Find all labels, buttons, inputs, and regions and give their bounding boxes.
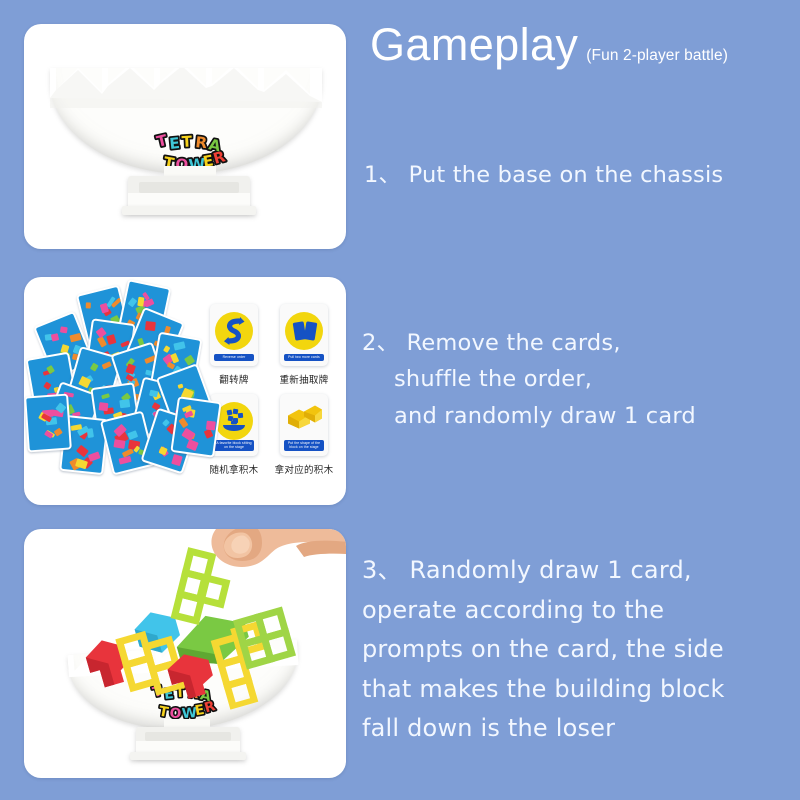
step-3-line-3: that makes the building block (362, 670, 725, 710)
step-3-text: 3、 Randomly draw 1 card, operate accordi… (362, 551, 725, 749)
card-back-block (144, 321, 155, 331)
card-back (24, 394, 72, 453)
svg-text:T: T (155, 131, 170, 151)
card-back-block (85, 302, 91, 308)
photo-panel-step-3: T E T R A T O W E R T E T (24, 529, 346, 778)
svg-text:T: T (158, 704, 171, 720)
step-2-line-1: shuffle the order, (362, 361, 696, 397)
step-1-line-0: 1、 Put the base on the chassis (364, 157, 723, 189)
step-3-line-0: 3、 Randomly draw 1 card, (362, 551, 725, 591)
svg-text:T: T (181, 132, 193, 151)
card-back-block (51, 333, 59, 342)
hand-icon (192, 529, 346, 595)
example-card-banner-3: Put the shape of the block on the stage (284, 440, 324, 451)
example-card-3: Put the shape of the block on the stage (280, 394, 328, 456)
two-cards-icon (285, 312, 323, 350)
example-card-banner-2: A favorite block sitting on the stage (214, 440, 254, 451)
card-back-block (163, 345, 170, 352)
step-3-line-2: prompts on the card, the side (362, 630, 725, 670)
photo-panel-step-1: T E T R A T O W E R T E T (24, 24, 346, 249)
example-card-banner-1: Pull two more cards (284, 354, 324, 361)
card-back-block (119, 399, 130, 408)
chassis-foot (122, 206, 256, 215)
step-3-line-1: operate according to the (362, 591, 725, 631)
chassis-foot (130, 752, 246, 760)
card-back-block (60, 327, 68, 334)
step-2-line-2: and randomly draw 1 card (362, 398, 696, 434)
example-card-1: Pull two more cards (280, 304, 328, 366)
card-back-block (76, 445, 89, 458)
card-back-block (69, 333, 81, 342)
svg-text:O: O (169, 705, 182, 720)
card-back-block (90, 362, 99, 371)
reverse-arrows-glyph (215, 312, 253, 350)
svg-text:R: R (195, 133, 209, 152)
infographic-page: T E T R A T O W E R T E T (0, 0, 800, 800)
card-back-block (128, 297, 138, 307)
product-photo-gameplay: T E T R A T O W E R T E T (24, 529, 346, 778)
card-back-block (88, 452, 101, 463)
card-back-block (101, 394, 110, 400)
hand (192, 529, 346, 595)
svg-text:E: E (169, 134, 181, 153)
two-cards-glyph (285, 312, 323, 350)
example-card-0: Reverse order (210, 304, 258, 366)
step-3-line-4: fall down is the loser (362, 709, 725, 749)
card-back-block (43, 382, 51, 390)
chassis-slot (145, 732, 230, 741)
step-2-text: 2、 Remove the cards, shuffle the order, … (362, 325, 696, 434)
card-back-block (173, 341, 186, 351)
example-card-banner-0: Reverse order (214, 354, 254, 361)
card-back-block (101, 361, 111, 369)
card-back-block (137, 297, 144, 307)
card-back-block (171, 453, 182, 465)
header: Gameplay (Fun 2-player battle) (370, 22, 790, 67)
photo-panel-step-2: Reverse order 翻转牌 Pull two more cards 重新… (24, 277, 346, 505)
card-back-block (106, 334, 116, 345)
card-back-block (119, 456, 132, 465)
chassis-slot (139, 182, 239, 193)
card-back-block (206, 420, 216, 429)
tetra-tower-logo-icon: T E T R A T O W E R T E T (152, 125, 228, 172)
product-photo-cards: Reverse order 翻转牌 Pull two more cards 重新… (24, 277, 346, 505)
card-back (170, 396, 221, 458)
card-back-block (127, 430, 138, 440)
card-back-block (95, 327, 106, 338)
card-back-block (203, 428, 212, 438)
card-back-block (179, 417, 189, 428)
product-photo-base-on-chassis: T E T R A T O W E R T E T (24, 24, 346, 249)
page-title: Gameplay (370, 22, 578, 67)
reverse-arrows-icon (215, 312, 253, 350)
card-back-block (177, 384, 183, 389)
matching-block-glyph (284, 403, 324, 433)
tetra-tower-logo: T E T R A T O W E R T E T (152, 125, 228, 172)
step-1-text: 1、 Put the base on the chassis (364, 157, 723, 189)
page-subtitle: (Fun 2-player battle) (586, 47, 728, 65)
step-2-line-0: 2、 Remove the cards, (362, 325, 696, 361)
matching-block-icon (284, 403, 324, 438)
card-back-block (99, 402, 109, 411)
card-back-block (186, 439, 199, 451)
example-card-caption-1: 重新抽取牌 (261, 372, 346, 386)
card-back-block (114, 439, 126, 448)
example-card-caption-3: 拿对应的积木 (261, 462, 346, 476)
